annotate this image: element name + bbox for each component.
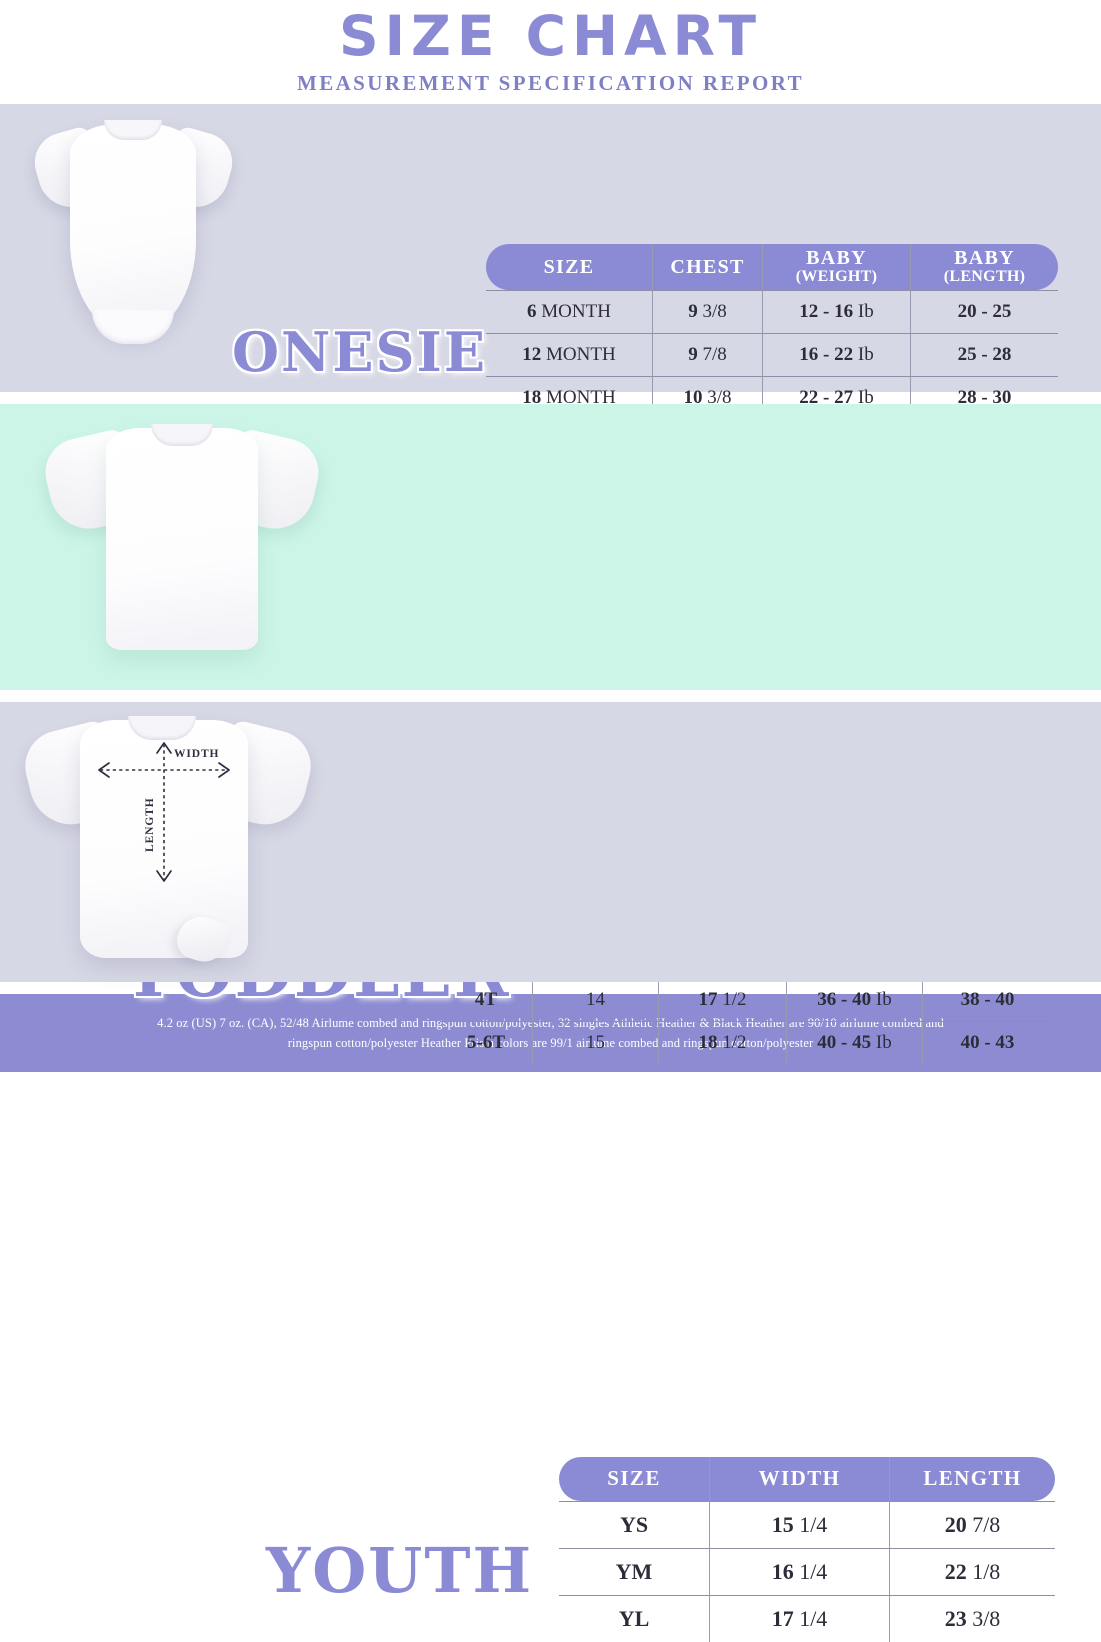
onesie-crotch	[92, 310, 174, 344]
column-header-size: SIZE	[486, 244, 652, 290]
page-header: SIZE CHART MEASUREMENT SPECIFICATION REP…	[0, 0, 1101, 104]
table-row: YL 17 1/4 23 3/8	[559, 1595, 1055, 1642]
cell-size: YL	[559, 1595, 709, 1642]
band-divider	[0, 690, 1101, 702]
column-header-chest: CHEST	[652, 244, 762, 290]
cell-chest: 15	[532, 1021, 658, 1064]
measurement-arrows-overlay: WIDTH LENGTH	[28, 702, 308, 980]
size-table-youth: SIZE WIDTH LENGTH YS 15 1/4 20 7/8 YM 16…	[559, 1457, 1055, 1642]
cell-fits-weight: 40 - 45 Ib	[786, 1021, 922, 1064]
youth-tshirt-image: WIDTH LENGTH	[28, 702, 308, 980]
cell-size: YS	[559, 1501, 709, 1548]
cell-size: 4T	[440, 978, 532, 1021]
cell-length-2: 38 - 40	[922, 978, 1052, 1021]
onesie-body	[70, 124, 196, 336]
cell-length: 18 1/2	[658, 1021, 786, 1064]
column-header-length: LENGTH	[889, 1457, 1055, 1501]
cell-length-2: 40 - 43	[922, 1021, 1052, 1064]
table-row: YM 16 1/4 22 1/8	[559, 1548, 1055, 1595]
cell-size: 5-6T	[440, 1021, 532, 1064]
cell-length: 23 3/8	[889, 1595, 1055, 1642]
cell-chest: 14	[532, 978, 658, 1021]
cell-size: 12 MONTH	[486, 333, 652, 376]
toddler-body	[106, 428, 258, 650]
column-header-width: WIDTH	[709, 1457, 889, 1501]
cell-length: 20 7/8	[889, 1501, 1055, 1548]
cell-width: 16 1/4	[709, 1548, 889, 1595]
table-header-row: SIZE WIDTH LENGTH	[559, 1457, 1055, 1501]
table-row: 5-6T 15 18 1/2 40 - 45 Ib 40 - 43	[440, 1021, 1052, 1064]
cell-baby-weight: 12 - 16 Ib	[762, 290, 910, 333]
page-subtitle: MEASUREMENT SPECIFICATION REPORT	[297, 71, 804, 96]
cell-chest: 9 7/8	[652, 333, 762, 376]
cell-length: 22 1/8	[889, 1548, 1055, 1595]
table-row: 4T 14 17 1/2 36 - 40 Ib 38 - 40	[440, 978, 1052, 1021]
cell-size: 6 MONTH	[486, 290, 652, 333]
cell-baby-weight: 16 - 22 Ib	[762, 333, 910, 376]
column-header-size: SIZE	[559, 1457, 709, 1501]
column-header-baby-weight: BABY (WEIGHT)	[762, 244, 910, 290]
section-label-onesie: ONESIE	[232, 320, 487, 384]
cell-chest: 9 3/8	[652, 290, 762, 333]
toddler-tshirt-image	[48, 414, 316, 674]
section-youth: WIDTH LENGTH YOUTH SIZE WIDTH LENGTH	[0, 702, 1101, 982]
section-toddler: TODDLER SIZE CHEST (INCHES) LENGTH (INCH…	[0, 404, 1101, 690]
section-onesie: ONESIE SIZE CHEST BABY (WEIGHT) BABY (LE…	[0, 104, 1101, 392]
page-title: SIZE CHART	[339, 9, 762, 64]
column-header-baby-length: BABY (LENGTH)	[910, 244, 1058, 290]
section-label-youth: YOUTH	[266, 1534, 533, 1607]
cell-baby-length: 25 - 28	[910, 333, 1058, 376]
table-row: 12 MONTH 9 7/8 16 - 22 Ib 25 - 28	[486, 333, 1058, 376]
cell-baby-length: 20 - 25	[910, 290, 1058, 333]
width-annotation-label: WIDTH	[174, 748, 219, 760]
table-row: YS 15 1/4 20 7/8	[559, 1501, 1055, 1548]
cell-width: 15 1/4	[709, 1501, 889, 1548]
length-annotation-label: LENGTH	[144, 797, 156, 852]
table-row: 6 MONTH 9 3/8 12 - 16 Ib 20 - 25	[486, 290, 1058, 333]
cell-width: 17 1/4	[709, 1595, 889, 1642]
cell-size: YM	[559, 1548, 709, 1595]
table-header-row: SIZE CHEST BABY (WEIGHT) BABY (LENGTH)	[486, 244, 1058, 290]
onesie-garment-image	[32, 114, 232, 382]
cell-fits-weight: 36 - 40 Ib	[786, 978, 922, 1021]
cell-length: 17 1/2	[658, 978, 786, 1021]
